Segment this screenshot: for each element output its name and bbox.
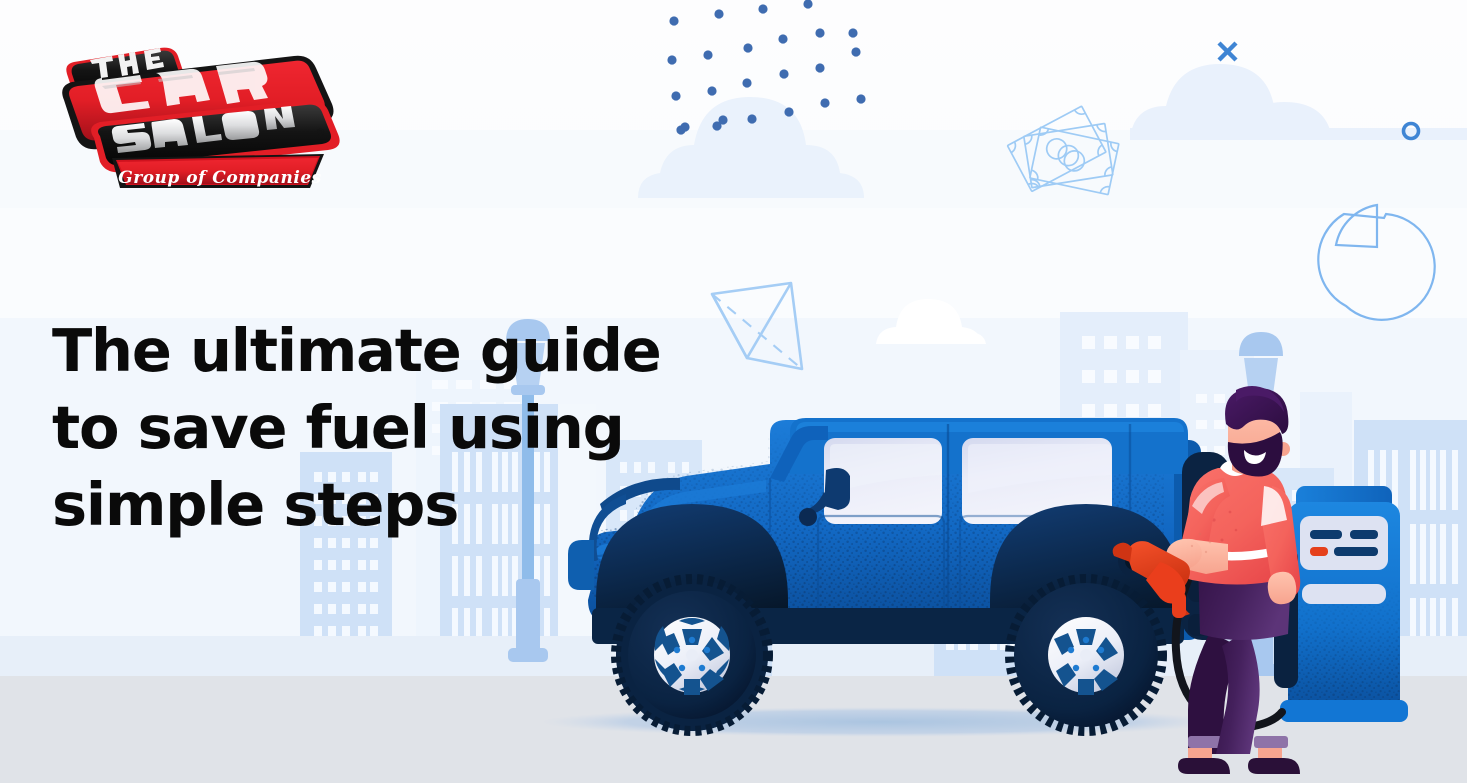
wheel-front: [616, 579, 768, 731]
gas-pump-display: [1300, 516, 1388, 570]
hero-banner: ® Group of Companies The ultimate guide …: [0, 0, 1467, 783]
gas-pump: [1274, 486, 1408, 722]
the-car-salon-logo[interactable]: ® Group of Companies: [52, 28, 342, 193]
headline-line-2: to save fuel using: [52, 389, 692, 466]
headline-line-3: simple steps: [52, 466, 692, 543]
logo-tagline-text: Group of Companies: [118, 168, 322, 188]
sky-band-2: [0, 208, 1467, 318]
logo-trademark: ®: [315, 126, 326, 139]
logo-artwork: ® Group of Companies: [52, 28, 342, 193]
logo-tagline-banner: Group of Companies: [112, 154, 324, 188]
page-title: The ultimate guide to save fuel using si…: [52, 312, 692, 543]
headline-line-1: The ultimate guide: [52, 312, 692, 389]
